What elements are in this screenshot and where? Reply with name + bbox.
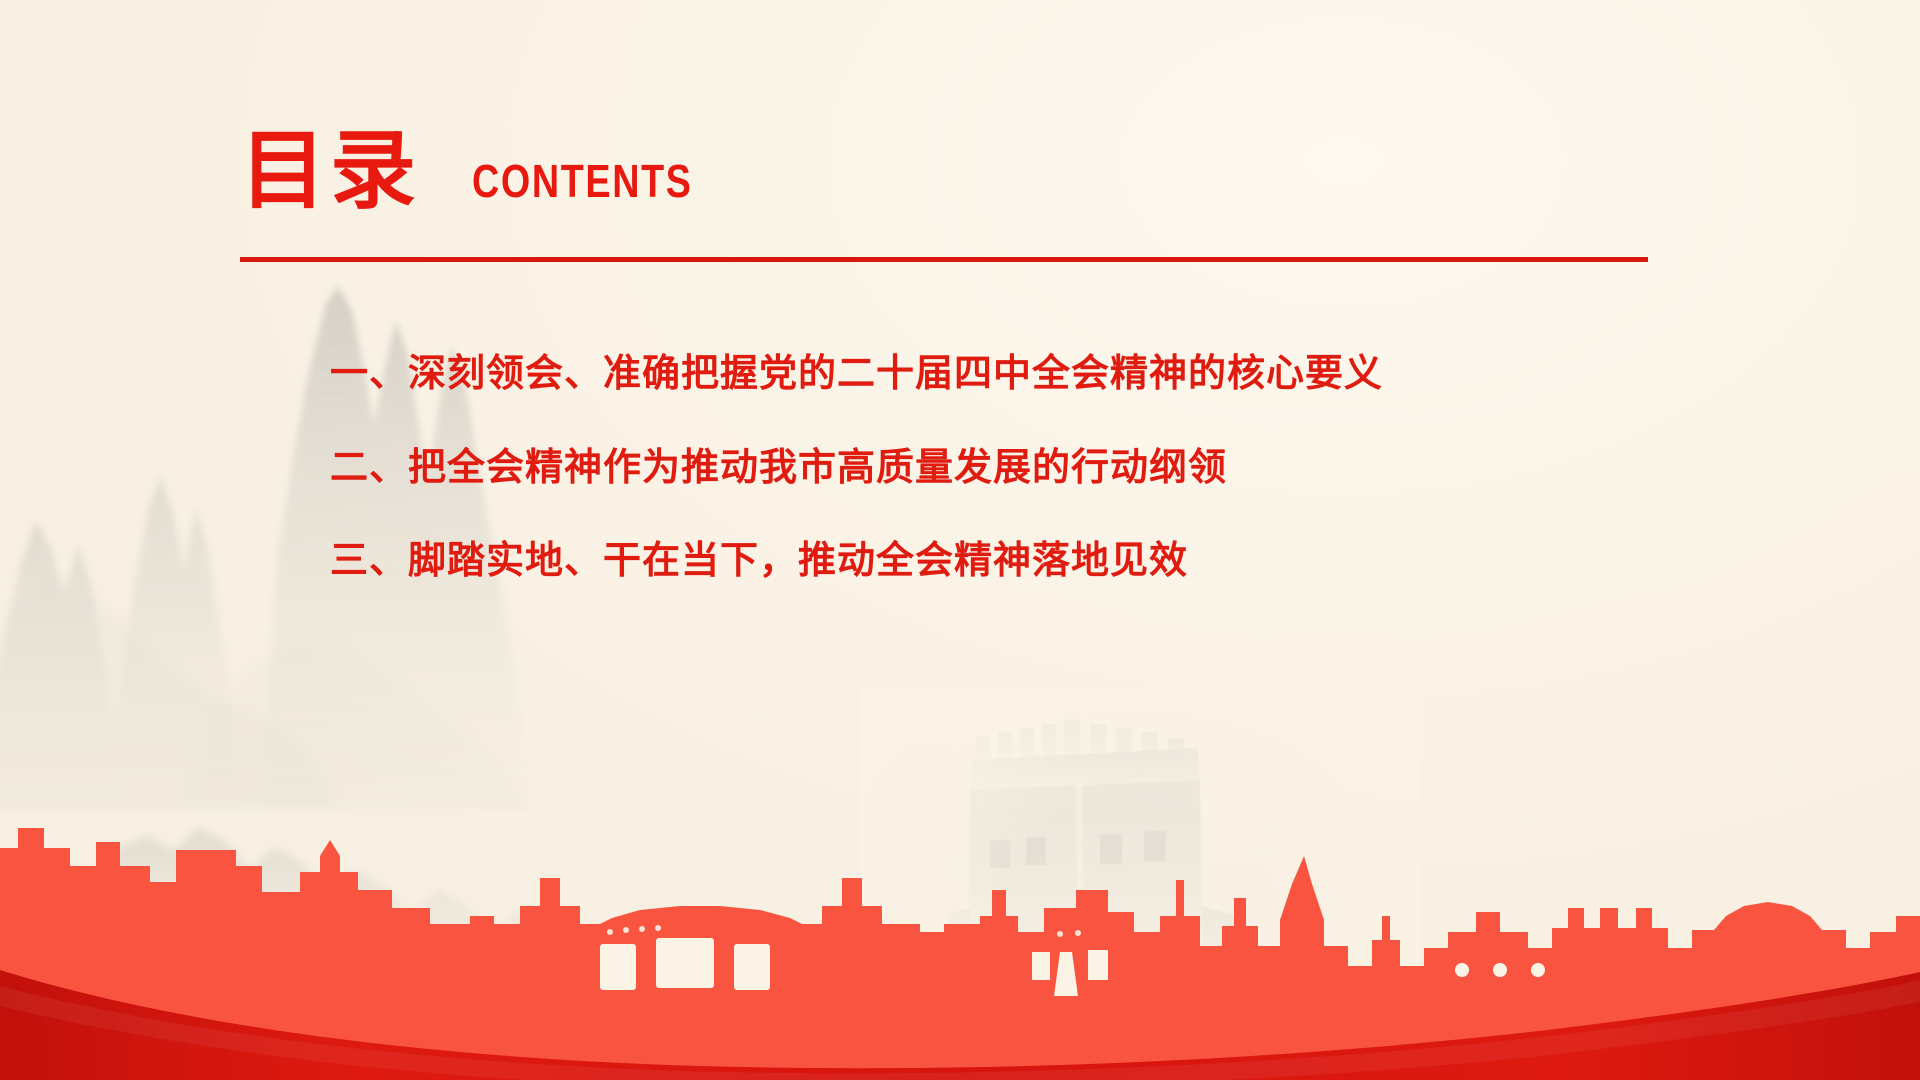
skyline-silhouette xyxy=(0,828,1920,1080)
page-header: 目录 CONTENTS xyxy=(240,128,741,214)
header-divider xyxy=(240,257,1648,262)
bottom-skyline-decoration xyxy=(0,820,1920,1080)
gate-tower-haze xyxy=(860,690,1420,1010)
ink-wash-foliage-watermark xyxy=(60,770,780,1000)
page-title-cn: 目录 xyxy=(240,128,420,214)
contents-list: 一、深刻领会、准确把握党的二十届四中全会精神的核心要义 二、把全会精神作为推动我… xyxy=(330,352,1383,582)
slide-root: 目录 CONTENTS 一、深刻领会、准确把握党的二十届四中全会精神的核心要义 … xyxy=(0,0,1920,1080)
contents-item-1[interactable]: 一、深刻领会、准确把握党的二十届四中全会精神的核心要义 xyxy=(330,352,1383,395)
page-title-en: CONTENTS xyxy=(472,158,693,214)
chinese-gate-tower-watermark xyxy=(948,718,1238,988)
contents-item-2[interactable]: 二、把全会精神作为推动我市高质量发展的行动纲领 xyxy=(330,446,1383,489)
contents-item-3[interactable]: 三、脚踏实地、干在当下，推动全会精神落地见效 xyxy=(330,539,1383,582)
